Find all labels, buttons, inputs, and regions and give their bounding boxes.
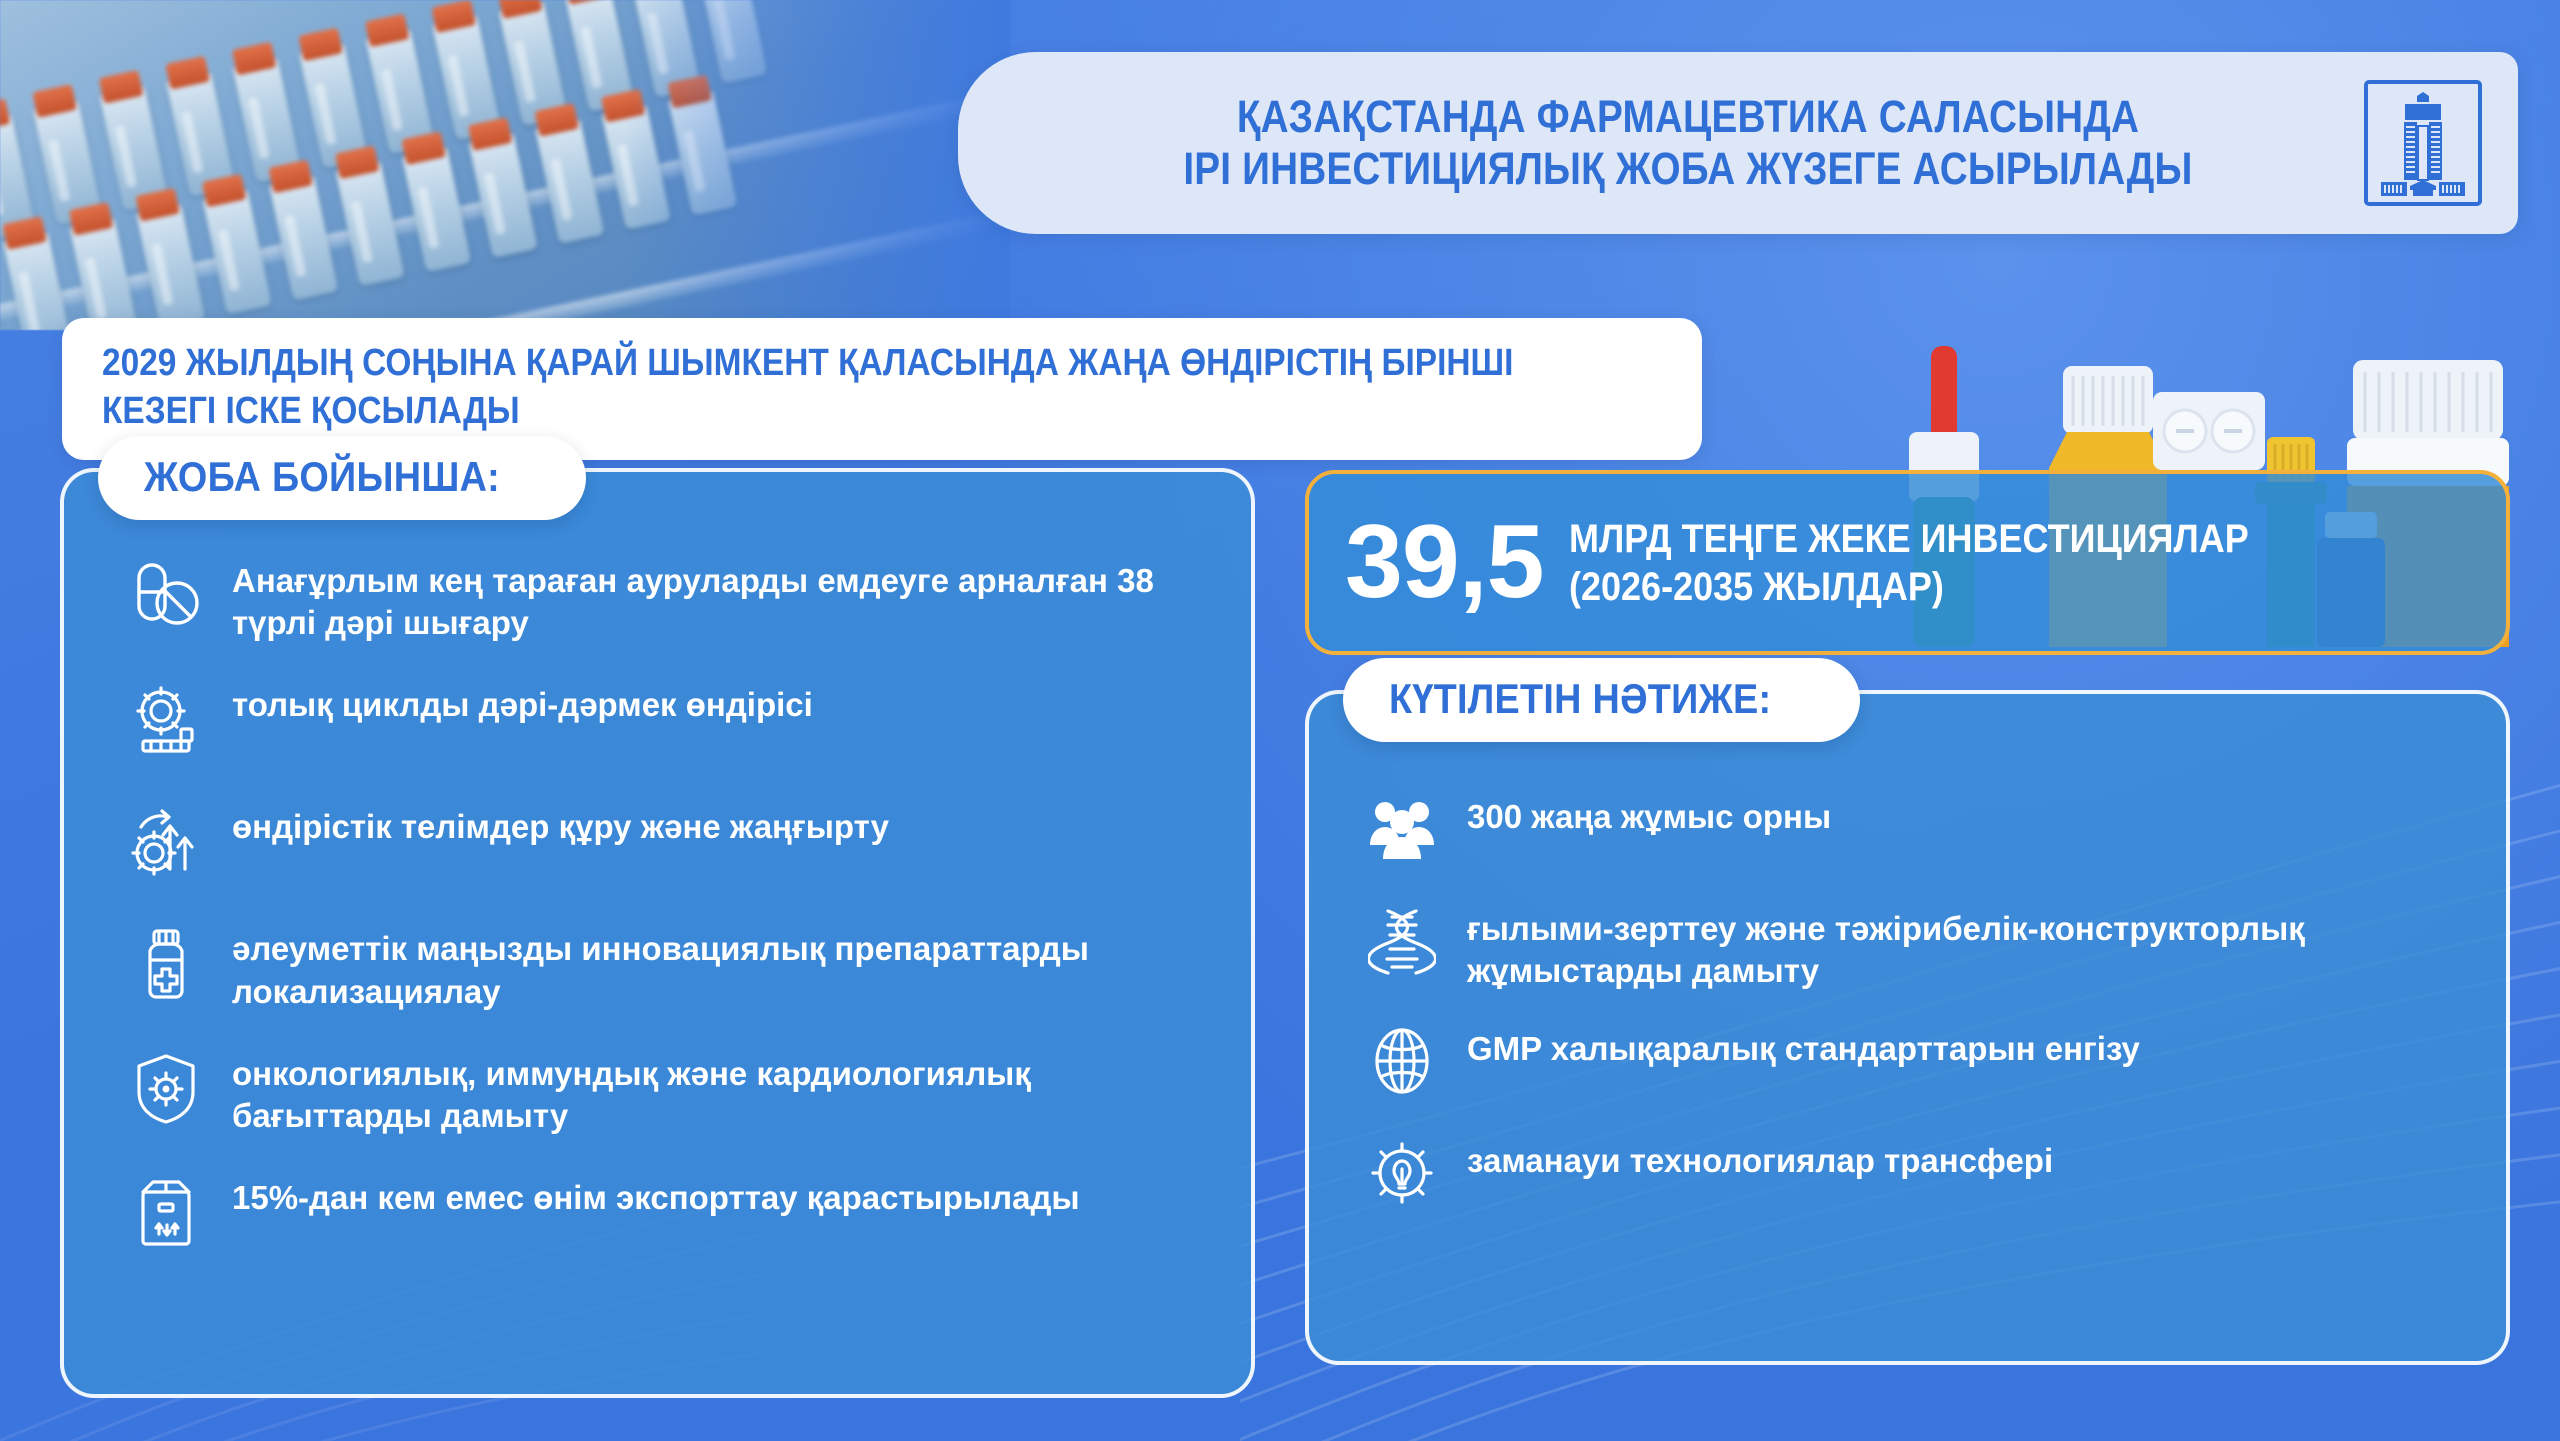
page-title: ҚАЗАҚСТАНДА ФАРМАЦЕВТИКА САЛАСЫНДА ІРІ И… (1036, 91, 2340, 195)
list-item-label: әлеуметтік маңызды инновациялық препарат… (232, 918, 1197, 1012)
subtitle-text: 2029 ЖЫЛДЫҢ СОҢЫНА ҚАРАЙ ШЫМКЕНТ ҚАЛАСЫН… (102, 340, 1475, 436)
list-item: Анағұрлым кең тараған ауруларды емдеуге … (120, 550, 1197, 644)
list-item: әлеуметтік маңызды инновациялық препарат… (120, 918, 1197, 1012)
list-item: өндірістік телімдер құру және жаңғырту (120, 796, 1197, 888)
list-item: GMP халықаралық стандарттарын енгізу (1359, 1018, 2466, 1104)
photo-machinery-2 (610, 0, 970, 120)
vial-production-line-photo (0, 0, 1010, 330)
list-item: заманауи технологиялар трансфері (1359, 1130, 2466, 1216)
investment-unit-line: МЛРД ТЕҢГЕ ЖЕКЕ ИНВЕСТИЦИЯЛАР (1569, 515, 2249, 563)
expected-results-list: 300 жаңа жұмыс орны ғылыми-зерттеу және … (1309, 786, 2506, 1242)
government-building-emblem-icon (2364, 80, 2482, 206)
medicine-bottle-cross-icon (120, 918, 212, 1010)
project-details-heading-badge: ЖОБА БОЙЫНША: (98, 436, 586, 520)
list-item-label: толық циклды дәрі-дәрмек өндірісі (232, 674, 813, 726)
list-item-label: өндірістік телімдер құру және жаңғырту (232, 796, 889, 848)
list-item: толық циклды дәрі-дәрмек өндірісі (120, 674, 1197, 766)
shield-virus-icon (120, 1043, 212, 1135)
export-box-icon (120, 1167, 212, 1259)
header-panel: ҚАЗАҚСТАНДА ФАРМАЦЕВТИКА САЛАСЫНДА ІРІ И… (958, 52, 2518, 234)
list-item: 15%-дан кем емес өнім экспорттау қарасты… (120, 1167, 1197, 1259)
photo-machinery (590, 0, 1010, 200)
list-item-label: ғылыми-зерттеу және тәжірибелік-конструк… (1467, 898, 2466, 992)
gear-conveyor-icon (120, 674, 212, 766)
list-item-label: онкологиялық, иммундық және кардиологиял… (232, 1043, 1197, 1137)
list-item-label: заманауи технологиялар трансфері (1467, 1130, 2053, 1182)
list-item: 300 жаңа жұмыс орны (1359, 786, 2466, 872)
investment-amount: 39,5 (1345, 515, 1543, 611)
people-group-icon (1359, 786, 1445, 872)
project-details-list: Анағұрлым кең тараған ауруларды емдеуге … (64, 550, 1251, 1289)
project-details-card: ЖОБА БОЙЫНША: Анағұрлым кең тараған ауру… (60, 468, 1255, 1398)
project-details-heading: ЖОБА БОЙЫНША: (144, 453, 500, 501)
list-item-label: 15%-дан кем емес өнім экспорттау қарасты… (232, 1167, 1080, 1219)
gear-growth-arrows-icon (120, 796, 212, 888)
expected-results-card: КҮТІЛЕТІН НӘТИЖЕ: 300 жаңа жұмыс орны (1305, 690, 2510, 1365)
list-item: онкологиялық, иммундық және кардиологиял… (120, 1043, 1197, 1137)
expected-results-heading-badge: КҮТІЛЕТІН НӘТИЖЕ: (1343, 658, 1860, 742)
subtitle-line-1: 2029 ЖЫЛДЫҢ СОҢЫНА ҚАРАЙ ШЫМКЕНТ ҚАЛАСЫН… (102, 340, 1475, 388)
capsule-pills-icon (120, 550, 212, 642)
globe-icon (1359, 1018, 1445, 1104)
gear-innovation-icon (1359, 1130, 1445, 1216)
list-item-label: Анағұрлым кең тараған ауруларды емдеуге … (232, 550, 1197, 644)
subtitle-line-2: КЕЗЕГІ ІСКЕ ҚОСЫЛАДЫ (102, 388, 1475, 436)
list-item-label: GMP халықаралық стандарттарын енгізу (1467, 1018, 2140, 1070)
investment-description: МЛРД ТЕҢГЕ ЖЕКЕ ИНВЕСТИЦИЯЛАР (2026-2035… (1569, 515, 2324, 611)
page-title-line-1: ҚАЗАҚСТАНДА ФАРМАЦЕВТИКА САЛАСЫНДА (1127, 91, 2248, 143)
page-title-line-2: ІРІ ИНВЕСТИЦИЯЛЫҚ ЖОБА ЖҮЗЕГЕ АСЫРЫЛАДЫ (1127, 143, 2248, 195)
list-item: ғылыми-зерттеу және тәжірибелік-конструк… (1359, 898, 2466, 992)
expected-results-heading: КҮТІЛЕТІН НӘТИЖЕ: (1389, 675, 1771, 723)
dna-helix-icon (1359, 898, 1445, 984)
investment-period-line: (2026-2035 ЖЫЛДАР) (1569, 563, 2249, 611)
investment-figure-card: 39,5 МЛРД ТЕҢГЕ ЖЕКЕ ИНВЕСТИЦИЯЛАР (2026… (1305, 470, 2510, 655)
list-item-label: 300 жаңа жұмыс орны (1467, 786, 1831, 838)
